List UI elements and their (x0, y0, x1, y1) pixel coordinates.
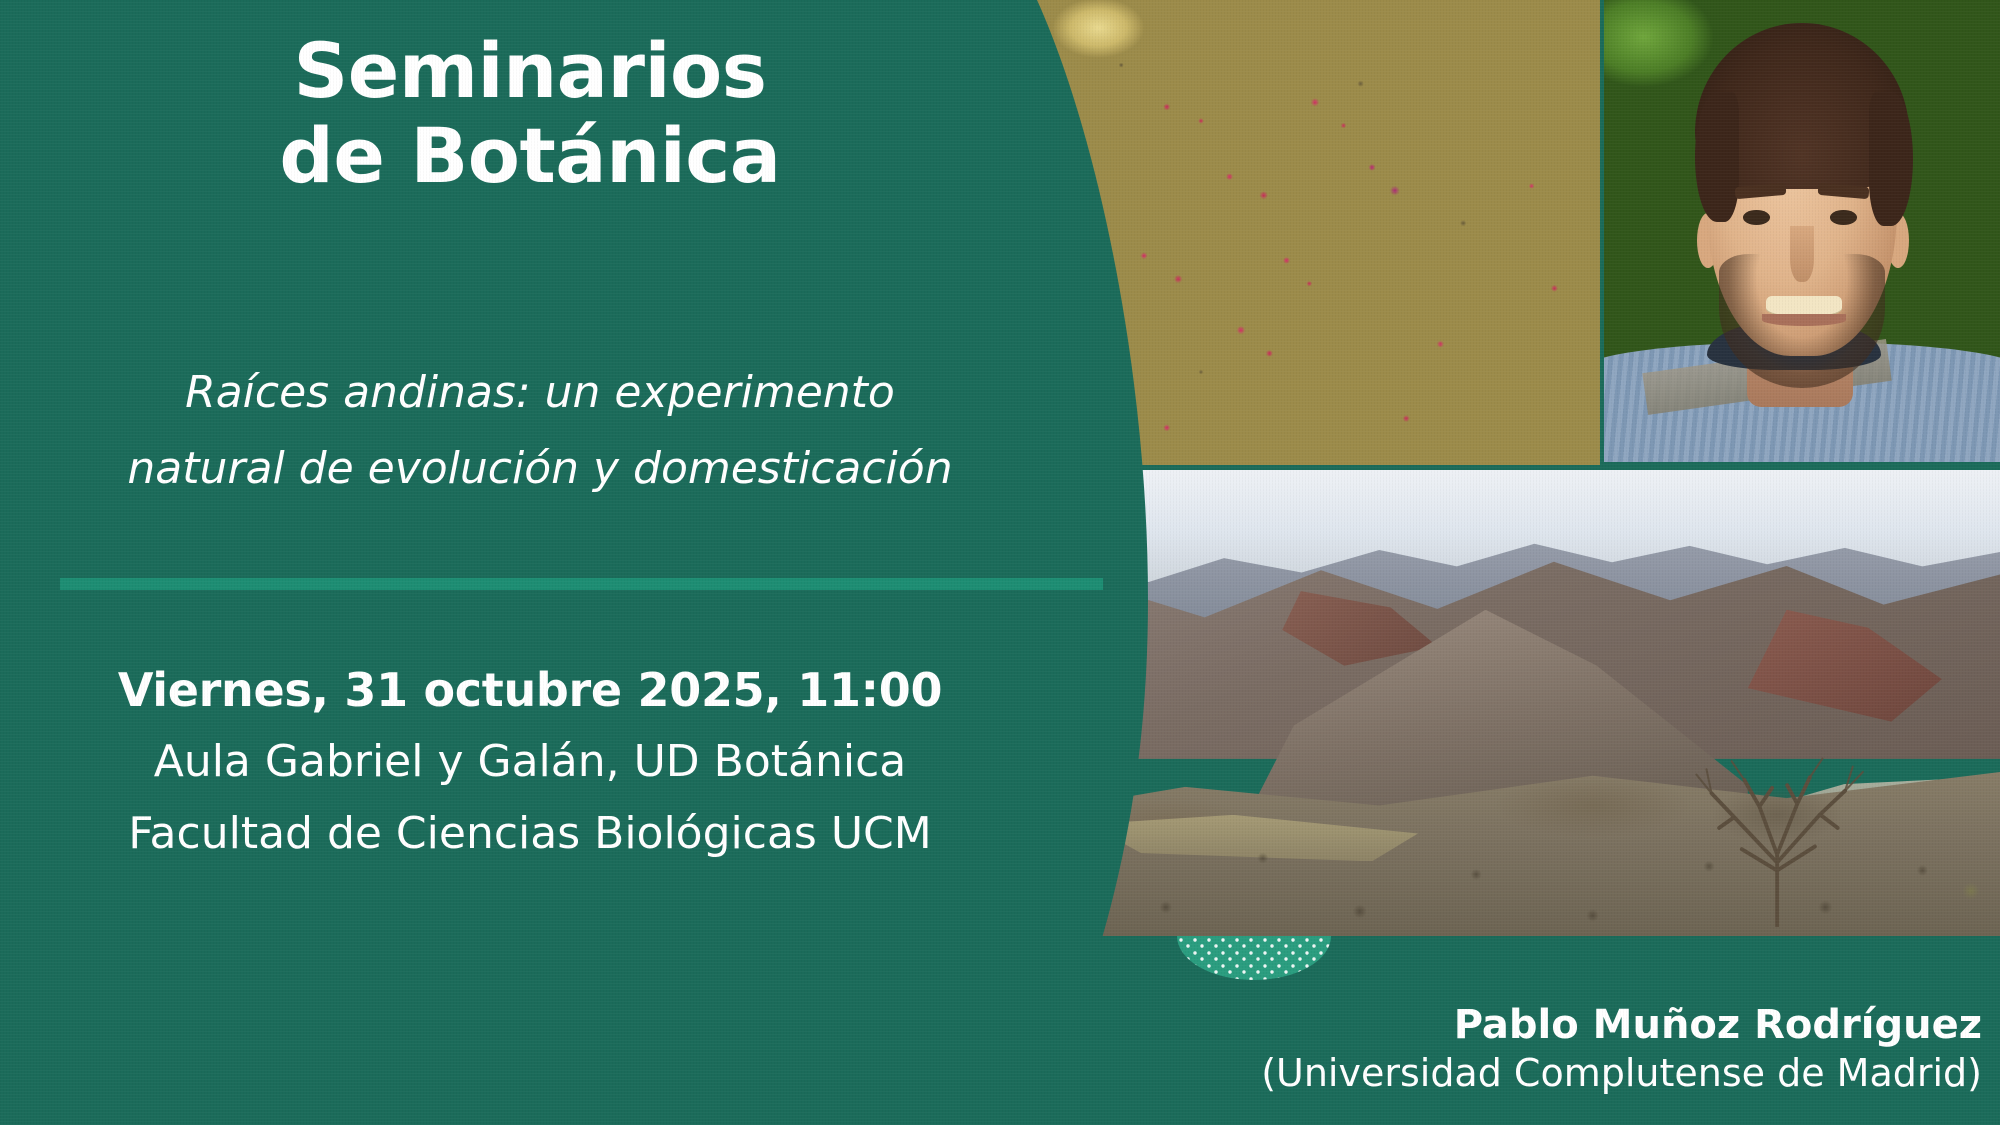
speaker-name: Pablo Muñoz Rodríguez (1261, 1000, 1982, 1050)
divider (60, 578, 1103, 590)
poster-text: Seminarios de Botánica Raíces andinas: u… (0, 0, 2000, 1125)
event-venue-room: Aula Gabriel y Galán, UD Botánica (0, 726, 1060, 797)
event-details: Viernes, 31 octubre 2025, 11:00 Aula Gab… (0, 655, 1060, 869)
speaker-block: Pablo Muñoz Rodríguez (Universidad Compl… (1261, 1000, 1982, 1098)
seminar-poster: Seminarios de Botánica Raíces andinas: u… (0, 0, 2000, 1125)
subtitle-line-2: natural de evolución y domesticación (20, 431, 1060, 507)
talk-subtitle: Raíces andinas: un experimento natural d… (20, 355, 1060, 506)
speaker-affiliation: (Universidad Complutense de Madrid) (1261, 1050, 1982, 1098)
event-datetime: Viernes, 31 octubre 2025, 11:00 (0, 655, 1060, 726)
title-line-2: de Botánica (0, 113, 1060, 198)
event-venue-faculty: Facultad de Ciencias Biológicas UCM (0, 798, 1060, 869)
subtitle-line-1: Raíces andinas: un experimento (185, 367, 895, 418)
page-title: Seminarios de Botánica (0, 28, 1060, 198)
title-line-1: Seminarios (294, 26, 767, 115)
